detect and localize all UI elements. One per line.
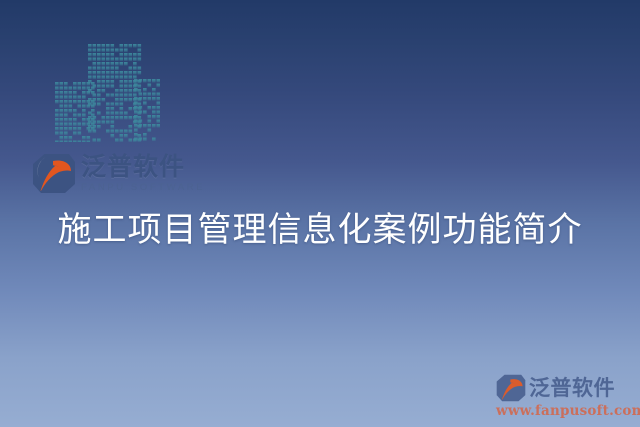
watermark-brand-row: 泛普软件	[496, 374, 636, 402]
brand-logo: 泛普软件 FANPU SOFTWARE	[32, 150, 205, 196]
brand-name-cn: 泛普软件	[81, 154, 205, 180]
watermark-brand-name: 泛普软件	[529, 378, 615, 399]
watermark-url: www.fanpusoft.com	[496, 404, 636, 419]
city-skyline-dot-matrix-icon	[55, 44, 160, 142]
fanpu-hexagon-logo-icon	[32, 153, 76, 194]
brand-name-en: FANPU SOFTWARE	[81, 182, 205, 193]
fanpu-hexagon-logo-icon	[496, 374, 526, 402]
brand-wordmark: 泛普软件 FANPU SOFTWARE	[81, 153, 205, 194]
presentation-slide: 泛普软件 FANPU SOFTWARE 施工项目管理信息化案例功能简介 泛普软件…	[0, 0, 640, 427]
watermark: 泛普软件 www.fanpusoft.com	[496, 374, 636, 419]
slide-headline: 施工项目管理信息化案例功能简介	[0, 209, 640, 252]
